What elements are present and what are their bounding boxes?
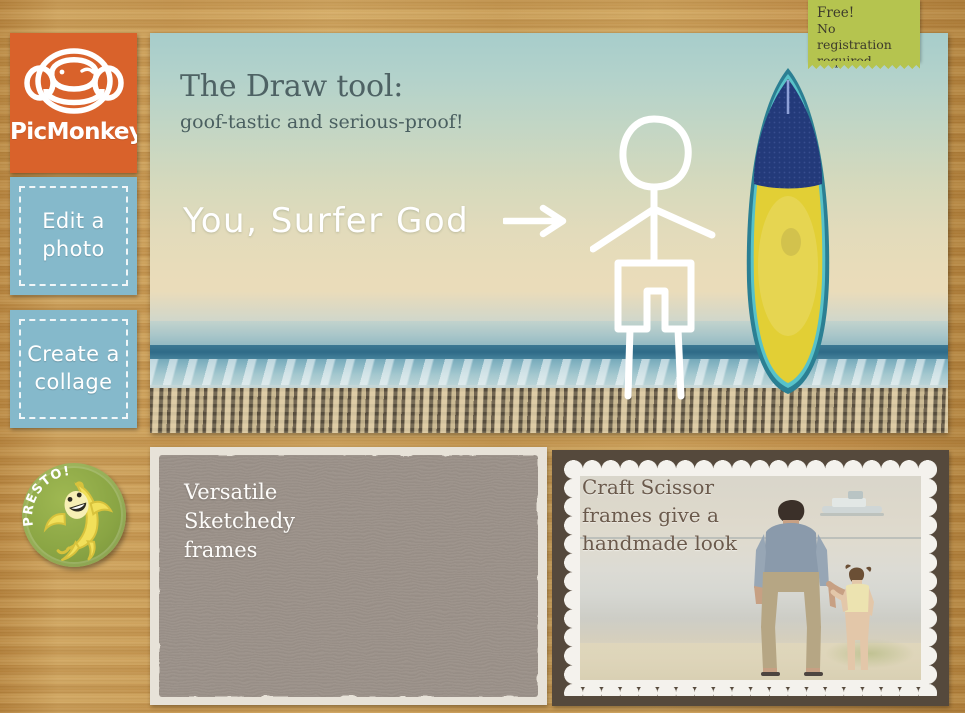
sidebar-button-edit-a-photo[interactable]: Edit a photo [10, 177, 137, 295]
free-no-registration-ribbon: Free! No registration required [808, 0, 920, 62]
monkey-face-icon [22, 43, 126, 119]
scissor-title-line1: Craft Scissor [582, 475, 714, 499]
create-collage-label-line1: Create a [27, 342, 120, 366]
create-collage-label: Create a collage [10, 340, 137, 396]
card-craft-scissor-frames[interactable]: Craft Scissor frames give a handmade loo… [552, 450, 949, 706]
free-label: Free! [817, 5, 914, 21]
boat-icon [820, 491, 884, 516]
card-sketchedy-frames[interactable]: Versatile Sketchedy frames [150, 447, 547, 705]
hero-banner[interactable]: The Draw tool: goof-tastic and serious-p… [150, 33, 948, 433]
presto-badge[interactable]: PRESTO! [22, 463, 126, 567]
scissor-title-line3: handmade look [582, 531, 737, 555]
create-collage-label-line2: collage [35, 370, 113, 394]
man-figure [754, 500, 848, 676]
sketchedy-card-title: Versatile Sketchedy frames [184, 478, 295, 565]
edit-photo-label: Edit a photo [10, 207, 137, 263]
craft-scissor-card-title: Craft Scissor frames give a handmade loo… [582, 473, 737, 557]
sketchedy-title-line2: Sketchedy [184, 509, 295, 533]
child-figure [833, 565, 874, 670]
hero-headline: The Draw tool: [180, 69, 403, 105]
edit-photo-label-line2: photo [42, 237, 105, 261]
hero-subheadline: goof-tastic and serious-proof! [180, 110, 463, 134]
sidebar-button-create-a-collage[interactable]: Create a collage [10, 310, 137, 428]
surfboard-photo [733, 66, 843, 396]
sketchedy-title-line3: frames [184, 538, 257, 562]
scissor-title-line2: frames give a [582, 503, 719, 527]
ribbon-zigzag-edge [808, 61, 920, 69]
edit-photo-label-line1: Edit a [42, 209, 105, 233]
hero-handwritten-caption: You, Surfer God [183, 201, 469, 241]
dancing-banana-icon: PRESTO! [22, 463, 126, 567]
picmonkey-logo-tile[interactable]: PicMonkey [10, 33, 137, 173]
sketchedy-title-line1: Versatile [184, 480, 277, 504]
logo-wordmark: PicMonkey [10, 119, 137, 145]
stick-figure-icon [590, 113, 720, 403]
free-ribbon-line2: No registration [817, 21, 892, 52]
right-arrow-icon [503, 203, 571, 239]
free-ribbon-text: Free! No registration required [817, 5, 914, 69]
